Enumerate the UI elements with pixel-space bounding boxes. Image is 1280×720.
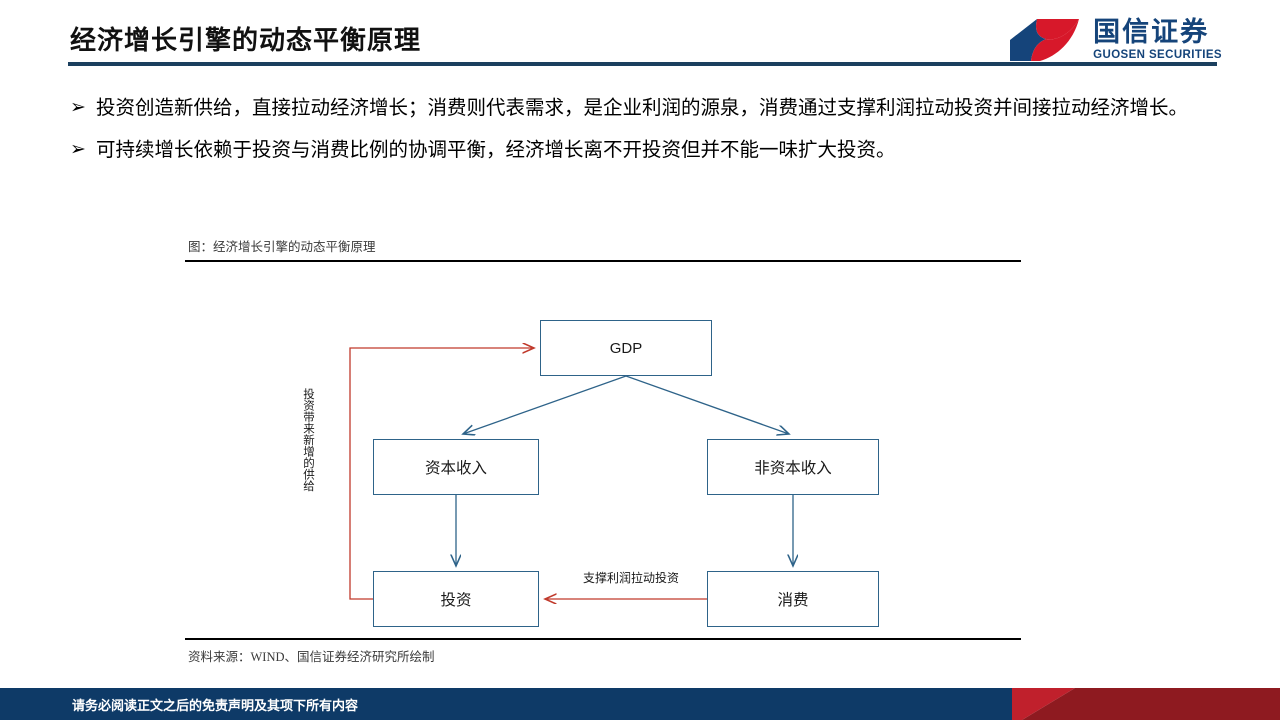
edge-label-profit-support: 支撑利润拉动投资: [583, 569, 679, 586]
edge-gdp-noncapital: [626, 376, 789, 434]
logo-name-en: GUOSEN SECURITIES: [1093, 50, 1222, 62]
logo-wordmark: 国信证券 GUOSEN SECURITIES: [1093, 19, 1222, 62]
bullet-arrow-icon: ➢: [70, 94, 96, 122]
edge-gdp-capital: [463, 376, 626, 434]
slide-root: 经济增长引擎的动态平衡原理 国信证券 GUOSEN SECURITIES ➢ 投…: [0, 0, 1280, 720]
figure-source-note: 资料来源：WIND、国信证券经济研究所绘制: [188, 646, 435, 665]
guosen-logo-icon: [1007, 16, 1083, 64]
figure-rule-top: [185, 260, 1021, 262]
figure-caption: 图：经济增长引擎的动态平衡原理: [188, 236, 376, 255]
node-capital-income: 资本收入: [373, 439, 539, 495]
bullet-text: 投资创造新供给，直接拉动经济增长；消费则代表需求，是企业利润的源泉，消费通过支撑…: [96, 94, 1220, 122]
node-noncapital-income: 非资本收入: [707, 439, 879, 495]
flow-diagram: GDP 资本收入 非资本收入 投资 消费 投资带来新增的供给 支撑利润拉动投资: [185, 266, 1021, 636]
bullet-list: ➢ 投资创造新供给，直接拉动经济增长；消费则代表需求，是企业利润的源泉，消费通过…: [70, 94, 1220, 178]
slide-footer: 请务必阅读正文之后的免责声明及其项下所有内容: [0, 688, 1280, 720]
page-title: 经济增长引擎的动态平衡原理: [70, 20, 421, 57]
node-investment: 投资: [373, 571, 539, 627]
bullet-text: 可持续增长依赖于投资与消费比例的协调平衡，经济增长离不开投资但并不能一味扩大投资…: [96, 136, 1220, 164]
node-gdp: GDP: [540, 320, 712, 376]
figure-rule-bottom: [185, 638, 1021, 640]
edge-label-investment-supply: 投资带来新增的供给: [299, 388, 315, 492]
bullet-arrow-icon: ➢: [70, 136, 96, 164]
node-consumption: 消费: [707, 571, 879, 627]
slide-header: 经济增长引擎的动态平衡原理 国信证券 GUOSEN SECURITIES: [0, 0, 1280, 78]
figure-block: 图：经济增长引擎的动态平衡原理: [185, 236, 1021, 666]
footer-disclaimer-text: 请务必阅读正文之后的免责声明及其项下所有内容: [72, 695, 358, 714]
bullet-item: ➢ 投资创造新供给，直接拉动经济增长；消费则代表需求，是企业利润的源泉，消费通过…: [70, 94, 1220, 122]
brand-logo: 国信证券 GUOSEN SECURITIES: [1007, 16, 1222, 64]
bullet-item: ➢ 可持续增长依赖于投资与消费比例的协调平衡，经济增长离不开投资但并不能一味扩大…: [70, 136, 1220, 164]
logo-name-cn: 国信证券: [1093, 19, 1222, 46]
